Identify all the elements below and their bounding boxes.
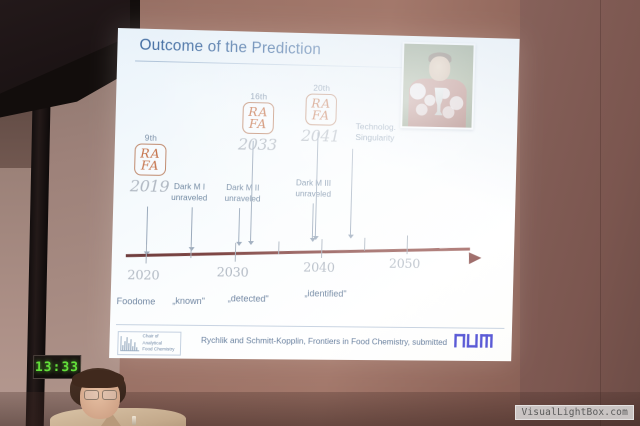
footer-divider [116, 324, 504, 329]
term-foodome: Foodome [116, 296, 155, 306]
chair-logo-text: Chair of Analytical Food Chemistry [142, 333, 175, 354]
presenter-glasses-icon [84, 390, 117, 398]
chair-logo-line-3: Food Chemistry [142, 347, 174, 354]
term-known: „known" [172, 296, 205, 306]
tum-logo-glyph [454, 331, 493, 350]
milestone-2033: 16th RA FA 2033 [230, 91, 287, 155]
dark-matter-line-1: Dark M I [171, 181, 207, 192]
projection-screen: Outcome of the Prediction 9th RA FA [109, 28, 520, 361]
dark-matter-line-2: unraveled [224, 193, 260, 204]
rafa-logo-bottom: FA [306, 109, 336, 122]
rafa-logo-icon: RA FA [242, 102, 274, 134]
rafa-logo-bottom: FA [135, 159, 165, 172]
dark-matter-line-2: unraveled [295, 188, 331, 199]
singularity-line-2: Singularity [355, 132, 396, 144]
timeline-arrowhead-icon [469, 252, 482, 264]
presenter-person [48, 368, 188, 426]
photo-face [429, 56, 450, 81]
chair-logo: Chair of Analytical Food Chemistry [117, 331, 181, 356]
milestone-2041: 20th RA FA 2041 [293, 82, 349, 145]
pointer-arrow-darkm1 [191, 207, 193, 250]
dark-matter-line-1: Dark M II [225, 182, 261, 193]
milestone-2019: 9th RA FA 2019 [121, 132, 178, 196]
lecture-hall-scene: Outcome of the Prediction 9th RA FA [0, 0, 640, 426]
rafa-logo-bottom: FA [243, 118, 273, 131]
spectrum-icon [120, 336, 139, 351]
dark-matter-label-3: Dark M III unraveled [295, 177, 331, 199]
axis-tick-2040 [321, 239, 323, 258]
dark-matter-line-2: unraveled [171, 192, 207, 203]
rafa-logo-icon: RA FA [305, 93, 337, 125]
singularity-line-1: Technolog. [356, 121, 397, 133]
citation-text: Rychlik and Schmitt-Kopplin, Frontiers i… [201, 335, 447, 347]
milestone-ordinal: 9th [123, 132, 179, 143]
axis-tick-2025 [190, 245, 192, 258]
speaker-photo-image [402, 44, 473, 128]
singularity-label: Technolog. Singularity [355, 121, 396, 144]
presentation-slide: Outcome of the Prediction 9th RA FA [109, 28, 520, 361]
axis-year-label: 2020 [127, 268, 160, 283]
milestone-year: 2019 [121, 176, 177, 196]
slide-title: Outcome of the Prediction [139, 37, 321, 60]
pointer-arrow-singularity [350, 149, 353, 238]
milestone-ordinal: 20th [294, 82, 349, 93]
timeline-axis [126, 248, 470, 258]
milestone-year: 2041 [293, 126, 348, 146]
dark-matter-label-2: Dark M II unraveled [224, 182, 260, 204]
dark-matter-label-1: Dark M I unraveled [171, 181, 208, 203]
term-detected: „detected" [228, 293, 269, 303]
milestone-ordinal: 16th [231, 91, 286, 102]
axis-year-label: 2040 [303, 261, 335, 276]
axis-year-label: 2050 [389, 257, 421, 272]
tum-logo [454, 331, 493, 350]
dark-matter-line-1: Dark M III [296, 177, 332, 188]
axis-tick-2030 [235, 243, 237, 262]
wall-seam [600, 0, 601, 426]
axis-tick-2020 [146, 244, 148, 263]
right-wall [520, 0, 640, 426]
presenter-badge [132, 416, 136, 425]
axis-year-label: 2030 [216, 265, 248, 280]
term-identified: „identified" [304, 288, 346, 298]
pointer-arrow-darkm2a [238, 208, 240, 245]
watermark: VisualLightBox.com [515, 405, 634, 420]
rafa-logo-icon: RA FA [134, 143, 167, 176]
presenter-hair-front [72, 370, 124, 388]
speaker-photo [400, 42, 475, 130]
milestone-year: 2033 [230, 134, 286, 154]
